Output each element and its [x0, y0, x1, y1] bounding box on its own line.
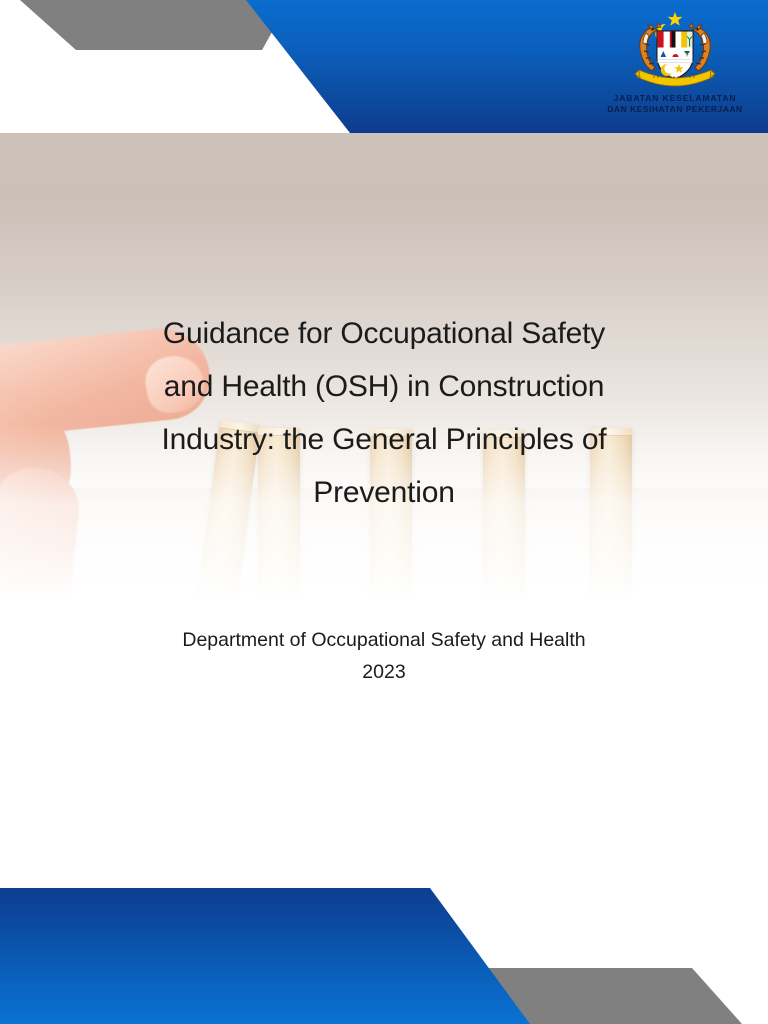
malaysia-coat-of-arms-icon: V: [621, 8, 729, 92]
logo-caption-line-2: DAN KESIHATAN PEKERJAAN: [600, 104, 750, 114]
bottom-banner: [0, 884, 768, 1024]
agency-logo-block: V JABATAN KESELAMATAN DAN KESIHATAN PEKE…: [600, 8, 750, 114]
logo-caption-line-1: JABATAN KESELAMATAN: [600, 93, 750, 103]
title-line-3: Industry: the General Principles of: [86, 413, 682, 466]
publication-year: 2023: [84, 656, 684, 688]
cover-page: V JABATAN KESELAMATAN DAN KESIHATAN PEKE…: [0, 0, 768, 1024]
publisher-block: Department of Occupational Safety and He…: [84, 624, 684, 688]
svg-text:V: V: [685, 52, 689, 58]
page-title: Guidance for Occupational Safety and Hea…: [86, 307, 682, 519]
publisher-name: Department of Occupational Safety and He…: [84, 624, 684, 656]
title-line-1: Guidance for Occupational Safety: [86, 307, 682, 360]
title-line-4: Prevention: [86, 466, 682, 519]
title-line-2: and Health (OSH) in Construction: [86, 360, 682, 413]
